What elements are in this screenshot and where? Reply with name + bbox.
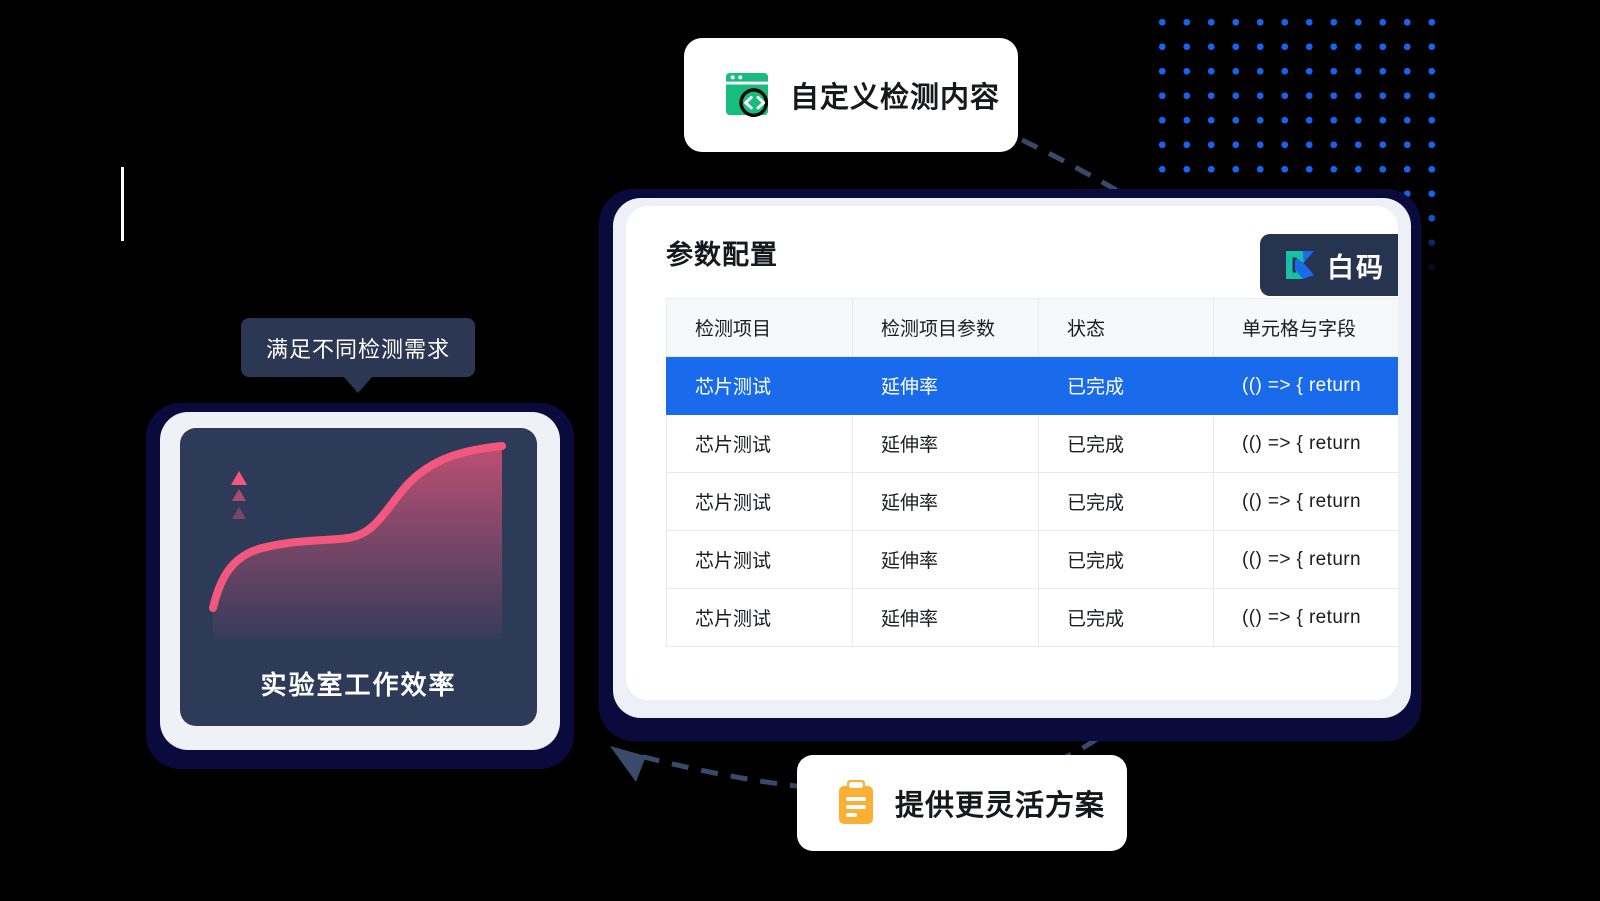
cell-item: 芯片测试: [667, 589, 853, 647]
config-panel-card: 参数配置 白码 检测项目 检测项目参数 状态 单元格与字段: [626, 206, 1398, 700]
cell-param: 延伸率: [853, 531, 1039, 589]
badge-flexible-plan-label: 提供更灵活方案: [895, 782, 1105, 824]
column-header-item[interactable]: 检测项目: [667, 299, 853, 357]
cell-param: 延伸率: [853, 357, 1039, 415]
chart-area-fill: [213, 446, 502, 638]
config-panel-header: 参数配置 白码: [626, 206, 1398, 298]
triangle-marker-3-icon: [232, 507, 246, 519]
table-row[interactable]: 芯片测试 延伸率 已完成 (() => { return: [667, 357, 1399, 415]
badge-custom-detection-label: 自定义检测内容: [790, 74, 1000, 116]
tooltip-different-needs: 满足不同检测需求: [241, 318, 475, 377]
table-row[interactable]: 芯片测试 延伸率 已完成 (() => { return: [667, 531, 1399, 589]
table-row[interactable]: 芯片测试 延伸率 已完成 (() => { return: [667, 415, 1399, 473]
parameter-table-head: 检测项目 检测项目参数 状态 单元格与字段: [667, 299, 1399, 357]
cell-param: 延伸率: [853, 473, 1039, 531]
cell-status: 已完成: [1039, 589, 1214, 647]
cell-param: 延伸率: [853, 415, 1039, 473]
parameter-table-body: 芯片测试 延伸率 已完成 (() => { return 芯片测试 延伸率 已完…: [667, 357, 1399, 647]
column-header-param[interactable]: 检测项目参数: [853, 299, 1039, 357]
cell-code: (() => { return: [1214, 357, 1399, 415]
connector-arrowhead-icon: [610, 746, 646, 782]
brand-badge: 白码: [1260, 234, 1398, 296]
browser-code-icon: [724, 73, 770, 117]
accent-bar: [121, 167, 124, 241]
cell-item: 芯片测试: [667, 415, 853, 473]
badge-flexible-plan[interactable]: 提供更灵活方案: [797, 755, 1127, 851]
poster-canvas: 自定义检测内容 提供更灵活方案 参数配置 白码: [0, 0, 1600, 901]
cell-item: 芯片测试: [667, 357, 853, 415]
efficiency-line-chart: [180, 428, 537, 653]
cell-status: 已完成: [1039, 415, 1214, 473]
cell-code: (() => { return: [1214, 473, 1399, 531]
cell-status: 已完成: [1039, 473, 1214, 531]
brand-name: 白码: [1327, 246, 1385, 285]
clipboard-icon: [837, 780, 875, 826]
cell-param: 延伸率: [853, 589, 1039, 647]
cell-item: 芯片测试: [667, 531, 853, 589]
page-title: 参数配置: [666, 233, 778, 272]
column-header-status[interactable]: 状态: [1039, 299, 1214, 357]
cell-code: (() => { return: [1214, 531, 1399, 589]
column-header-cell-field[interactable]: 单元格与字段: [1214, 299, 1399, 357]
table-header-row: 检测项目 检测项目参数 状态 单元格与字段: [667, 299, 1399, 357]
badge-custom-detection[interactable]: 自定义检测内容: [684, 38, 1018, 152]
cell-status: 已完成: [1039, 357, 1214, 415]
table-row[interactable]: 芯片测试 延伸率 已完成 (() => { return: [667, 473, 1399, 531]
parameter-table: 检测项目 检测项目参数 状态 单元格与字段 芯片测试 延伸率 已完成 (() =…: [666, 298, 1398, 647]
bm-logo-icon: [1283, 248, 1317, 282]
cell-item: 芯片测试: [667, 473, 853, 531]
cell-code: (() => { return: [1214, 589, 1399, 647]
table-row[interactable]: 芯片测试 延伸率 已完成 (() => { return: [667, 589, 1399, 647]
efficiency-card-caption: 实验室工作效率: [180, 665, 537, 702]
cell-status: 已完成: [1039, 531, 1214, 589]
efficiency-card: 实验室工作效率: [180, 428, 537, 726]
cell-code: (() => { return: [1214, 415, 1399, 473]
triangle-marker-2-icon: [232, 489, 246, 501]
tooltip-label: 满足不同检测需求: [266, 332, 450, 364]
triangle-marker-1-icon: [231, 471, 247, 485]
